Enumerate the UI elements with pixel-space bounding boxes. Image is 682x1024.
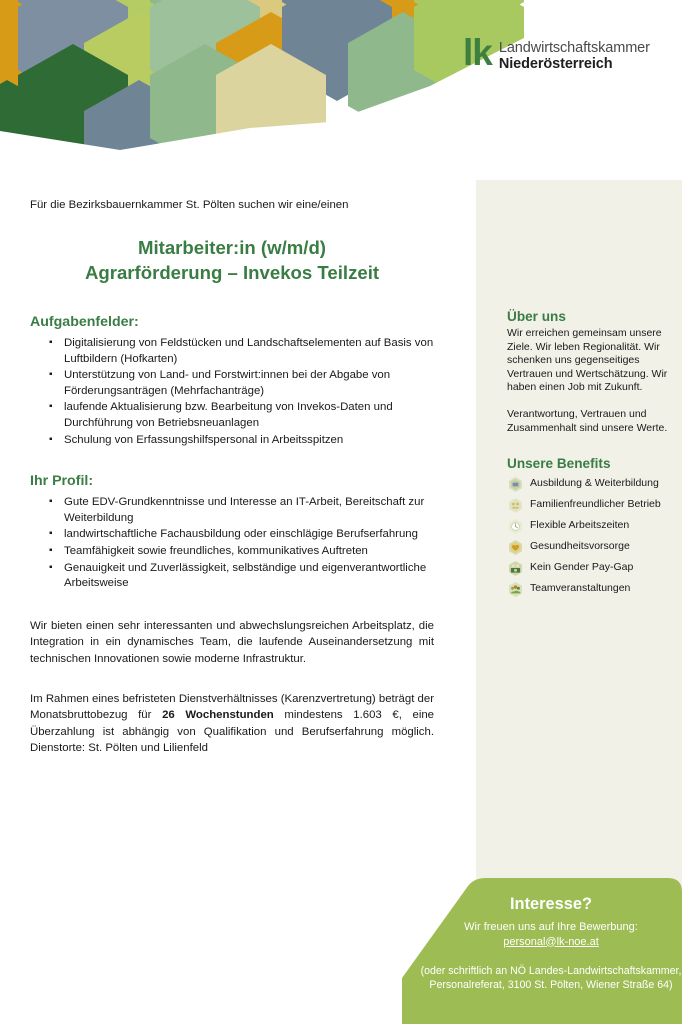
money-hex-icon (507, 560, 524, 577)
benefit-label: Gesundheitsvorsorge (530, 539, 630, 553)
family-hex-icon (507, 497, 524, 514)
job-title-line2: Agrarförderung – Invekos Teilzeit (30, 260, 434, 285)
list-item: Digitalisierung von Feldstücken und Land… (30, 336, 434, 367)
heart-hex-icon (507, 539, 524, 556)
footer-contact-block: Interesse? Wir freuen uns auf Ihre Bewer… (420, 893, 682, 992)
header-hexagon-banner (0, 0, 682, 180)
page-title: Mitarbeiter:in (w/m/d) Agrarförderung – … (30, 235, 434, 285)
clock-hex-icon (507, 518, 524, 535)
footer-postal-address: (oder schriftlich an NÖ Landes-Landwirts… (420, 964, 682, 992)
benefit-label: Familienfreundlicher Betrieb (530, 497, 661, 511)
graduation-hex-icon (507, 476, 524, 493)
profile-heading: Ihr Profil: (30, 472, 434, 490)
tasks-list: Digitalisierung von Feldstücken und Land… (30, 336, 434, 448)
team-hex-icon (507, 581, 524, 598)
main-content-column: Für die Bezirksbauernkammer St. Pölten s… (30, 198, 434, 757)
offer-paragraph: Wir bieten einen sehr interessanten und … (30, 618, 434, 667)
logo-organization-line1: Landwirtschaftskammer (499, 41, 650, 56)
benefits-heading: Unsere Benefits (507, 455, 669, 472)
list-item: Ausbildung & Weiterbildung (507, 476, 669, 493)
profile-list: Gute EDV-Grundkenntnisse und Interesse a… (30, 495, 434, 592)
benefit-label: Flexible Arbeitszeiten (530, 518, 629, 532)
intro-line: Für die Bezirksbauernkammer St. Pölten s… (30, 198, 434, 213)
footer-subtitle: Wir freuen uns auf Ihre Bewerbung: (420, 920, 682, 935)
list-item: Teamfähigkeit sowie freundliches, kommun… (30, 544, 434, 560)
list-item: Genauigkeit und Zuverlässigkeit, selbstä… (30, 561, 434, 592)
about-paragraph-1: Wir erreichen gemeinsam unsere Ziele. Wi… (507, 327, 669, 395)
list-item: landwirtschaftliche Fachausbildung oder … (30, 527, 434, 543)
list-item: Unterstützung von Land- und Forstwirt:in… (30, 368, 434, 399)
list-item: Flexible Arbeitszeiten (507, 518, 669, 535)
benefit-label: Ausbildung & Weiterbildung (530, 476, 659, 490)
contact-email-link[interactable]: personal@lk-noe.at (420, 935, 682, 950)
footer-heading: Interesse? (420, 893, 682, 915)
list-item: Kein Gender Pay-Gap (507, 560, 669, 577)
benefit-label: Kein Gender Pay-Gap (530, 560, 633, 574)
tasks-heading: Aufgabenfelder: (30, 313, 434, 331)
terms-paragraph: Im Rahmen eines befristeten Dienstverhäl… (30, 691, 434, 757)
lk-logo: lk Landwirtschaftskammer Niederösterreic… (463, 40, 650, 72)
weekly-hours: 26 Wochenstunden (162, 709, 274, 721)
list-item: Schulung von Erfassungshilfspersonal in … (30, 433, 434, 449)
about-heading: Über uns (507, 308, 669, 325)
logo-mark: lk (463, 38, 492, 68)
benefit-label: Teamveranstaltungen (530, 581, 630, 595)
list-item: Familienfreundlicher Betrieb (507, 497, 669, 514)
logo-organization-line2: Niederösterreich (499, 56, 650, 72)
list-item: laufende Aktualisierung bzw. Bearbeitung… (30, 400, 434, 431)
benefits-list: Ausbildung & Weiterbildung Familienfreun… (507, 476, 669, 598)
about-paragraph-2: Verantwortung, Vertrauen und Zusammenhal… (507, 408, 669, 435)
sidebar-content: Über uns Wir erreichen gemeinsam unsere … (507, 308, 669, 602)
list-item: Teamveranstaltungen (507, 581, 669, 598)
list-item: Gesundheitsvorsorge (507, 539, 669, 556)
list-item: Gute EDV-Grundkenntnisse und Interesse a… (30, 495, 434, 526)
job-title-line1: Mitarbeiter:in (w/m/d) (30, 235, 434, 260)
